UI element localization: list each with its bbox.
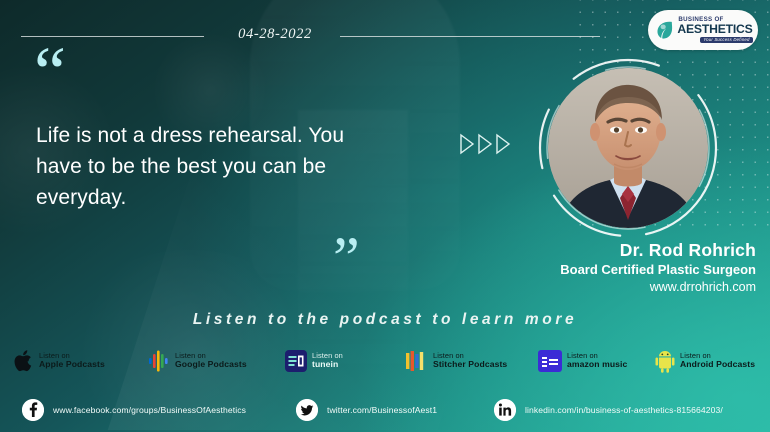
linkedin-url: linkedin.com/in/business-of-aesthetics-8… — [525, 405, 723, 415]
brand-logo[interactable]: BUSINESS OF AESTHETICS Your Success Defi… — [648, 10, 758, 50]
divider-right — [340, 36, 600, 37]
social-footer: www.facebook.com/groups/BusinessOfAesthe… — [0, 388, 770, 432]
amazon-music-icon — [538, 350, 562, 372]
facebook-icon — [22, 399, 44, 421]
social-facebook[interactable]: www.facebook.com/groups/BusinessOfAesthe… — [22, 399, 246, 421]
quote-text: Life is not a dress rehearsal. You have … — [36, 120, 366, 213]
social-linkedin[interactable]: linkedin.com/in/business-of-aesthetics-8… — [494, 399, 723, 421]
badge-google-podcasts[interactable]: Listen on Google Podcasts — [148, 349, 247, 373]
twitter-url: twitter.com/BusinessofAest1 — [327, 405, 437, 415]
badge-line2: amazon music — [567, 360, 627, 369]
badge-line2: Google Podcasts — [175, 360, 247, 369]
stitcher-icon — [406, 351, 428, 371]
badge-android-podcasts[interactable]: Listen on Android Podcasts — [655, 349, 755, 373]
tunein-icon — [285, 350, 307, 372]
speaker-website: www.drrohrich.com — [408, 279, 756, 296]
logo-line2: AESTHETICS — [677, 23, 752, 35]
apple-icon — [14, 349, 34, 373]
linkedin-icon — [494, 399, 516, 421]
badge-line2: Android Podcasts — [680, 360, 755, 369]
badge-amazon-music[interactable]: Listen on amazon music — [538, 350, 627, 372]
badge-line2: Stitcher Podcasts — [433, 360, 507, 369]
google-podcasts-icon — [148, 349, 170, 373]
facebook-url: www.facebook.com/groups/BusinessOfAesthe… — [53, 405, 246, 415]
speaker-portrait-group — [548, 68, 708, 228]
quote-close-mark: ” — [333, 228, 360, 288]
badge-apple-podcasts[interactable]: Listen on Apple Podcasts — [14, 349, 105, 373]
cta-tagline: Listen to the podcast to learn more — [0, 311, 770, 329]
badge-stitcher-podcasts[interactable]: Listen on Stitcher Podcasts — [406, 351, 507, 371]
badge-line2: Apple Podcasts — [39, 360, 105, 369]
podcast-quote-card: 04-28-2022 BUSINESS OF AESTHETICS Your S… — [0, 0, 770, 432]
speaker-portrait — [548, 68, 708, 228]
speaker-role: Board Certified Plastic Surgeon — [408, 262, 756, 279]
leaf-face-logo-icon — [653, 19, 675, 41]
podcast-badges: Listen on Apple Podcasts Listen on Googl… — [0, 345, 770, 377]
speaker-name: Dr. Rod Rohrich — [408, 240, 756, 262]
play-arrows-icon — [459, 133, 512, 155]
social-twitter[interactable]: twitter.com/BusinessofAest1 — [296, 399, 437, 421]
episode-date: 04-28-2022 — [216, 26, 334, 43]
speaker-info: Dr. Rod Rohrich Board Certified Plastic … — [408, 240, 756, 296]
badge-line2: tunein — [312, 360, 343, 369]
logo-tagline: Your Success Defined — [700, 37, 752, 43]
android-icon — [655, 349, 675, 373]
quote-open-mark: “ — [34, 36, 66, 108]
badge-tunein[interactable]: Listen on tunein — [285, 350, 343, 372]
twitter-icon — [296, 399, 318, 421]
